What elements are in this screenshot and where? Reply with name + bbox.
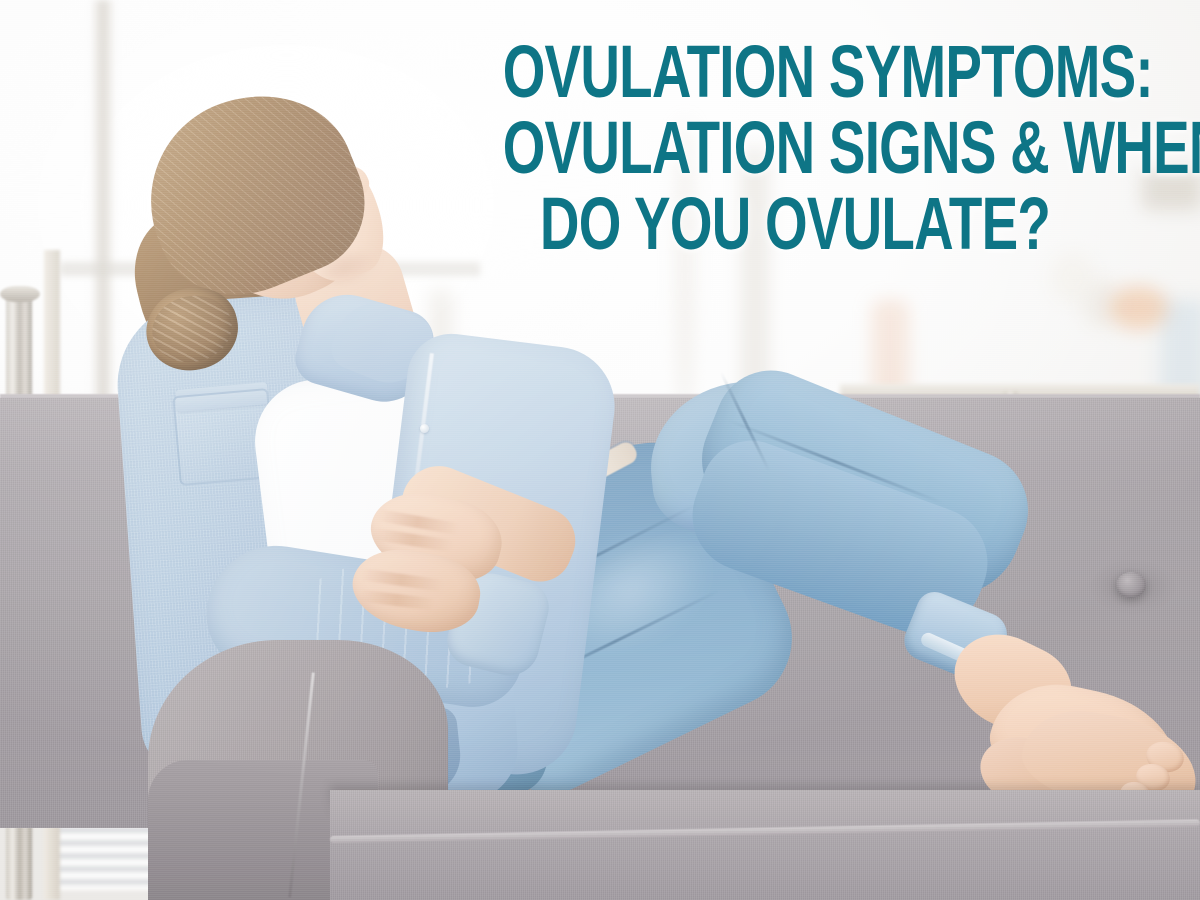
headline-line-2: OVULATION SIGNS & WHEN <box>503 110 1088 186</box>
headline-line-3: DO YOU OVULATE? <box>503 186 1088 262</box>
background-blur-shape <box>1110 286 1168 330</box>
sofa-tuft-button <box>1116 572 1146 598</box>
headline-line-1: OVULATION SYMPTOMS: <box>503 34 1088 110</box>
railing-post-cap <box>0 286 40 302</box>
screenshot-canvas: OVULATION SYMPTOMS: OVULATION SIGNS & WH… <box>0 0 1200 900</box>
sofa-seat-cushion <box>330 790 1200 900</box>
headline-overlay: OVULATION SYMPTOMS: OVULATION SIGNS & WH… <box>400 34 1190 262</box>
shirt-button <box>420 424 429 433</box>
sofa-fabric-texture <box>330 790 1200 900</box>
